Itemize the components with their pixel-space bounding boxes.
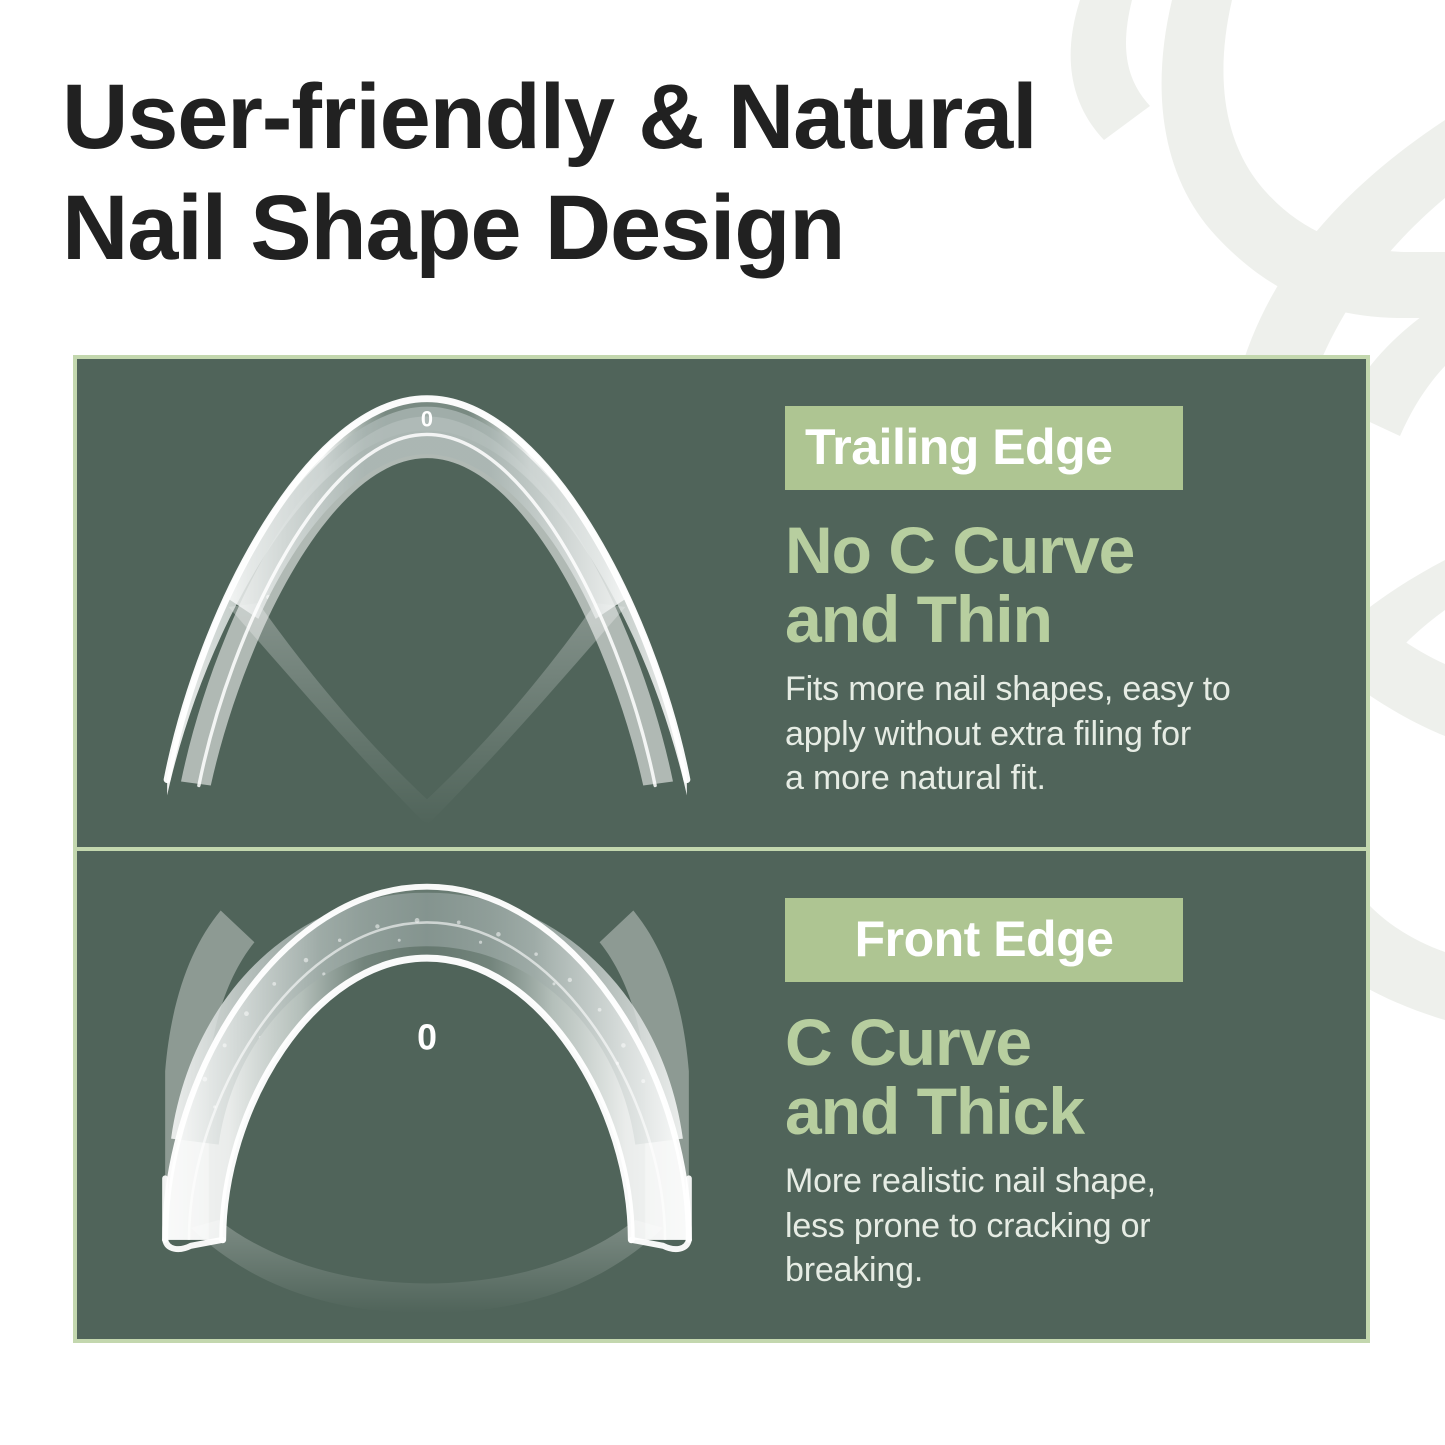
- size-marking-label: 0: [421, 406, 433, 431]
- body-trailing-edge: Fits more nail shapes, easy to apply wit…: [785, 667, 1305, 800]
- nail-tip-trailing-edge-figure: 0: [77, 359, 777, 847]
- badge-trailing-edge: Trailing Edge: [785, 406, 1183, 490]
- page-title: User-friendly & Natural Nail Shape Desig…: [62, 62, 1402, 285]
- body-front-edge: More realistic nail shape, less prone to…: [785, 1159, 1305, 1292]
- size-marking-label: 0: [417, 1017, 437, 1057]
- heading-trailing-edge: No C Curve and Thin: [785, 516, 1326, 653]
- panel-trailing-edge: 0 Trailing Edge No C Curve and Thin Fits…: [77, 359, 1366, 847]
- comparison-board: 0 Trailing Edge No C Curve and Thin Fits…: [73, 355, 1370, 1343]
- panel-front-edge: 0 Front Edge C Curve and Thick More real…: [77, 847, 1366, 1339]
- heading-front-edge: C Curve and Thick: [785, 1008, 1326, 1145]
- trailing-edge-copy: Trailing Edge No C Curve and Thin Fits m…: [777, 359, 1366, 847]
- page-title-line-1: User-friendly & Natural: [62, 62, 1402, 173]
- front-edge-copy: Front Edge C Curve and Thick More realis…: [777, 851, 1366, 1339]
- badge-front-edge: Front Edge: [785, 898, 1183, 982]
- nail-tip-front-edge-figure: 0: [77, 851, 777, 1339]
- page-title-line-2: Nail Shape Design: [62, 173, 1402, 284]
